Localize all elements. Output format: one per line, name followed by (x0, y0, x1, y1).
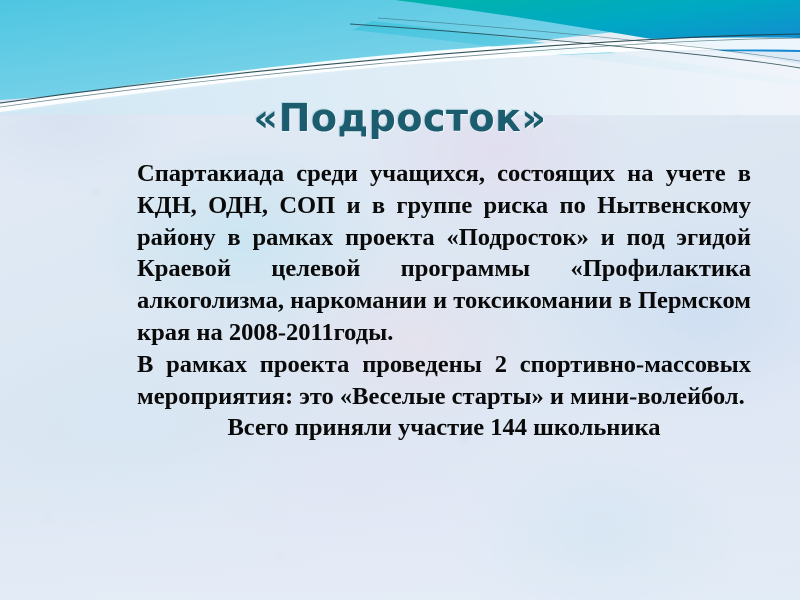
slide-title: «Подросток» (0, 96, 800, 140)
body-paragraph-3: Всего приняли участие 144 школьника (137, 412, 751, 444)
body-paragraph-2: В рамках проекта проведены 2 спортивно-м… (137, 349, 751, 413)
presentation-slide: «Подросток» Спартакиада среди учащихся, … (0, 0, 800, 600)
slide-body-text: Спартакиада среди учащихся, состоящих на… (137, 158, 751, 444)
body-paragraph-1: Спартакиада среди учащихся, состоящих на… (137, 158, 751, 349)
